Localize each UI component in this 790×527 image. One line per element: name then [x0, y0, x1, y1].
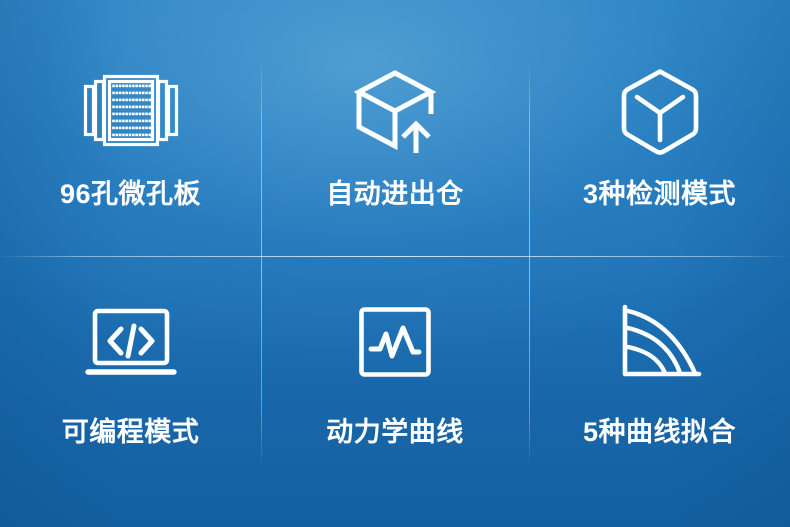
- decay-curves-icon: [605, 292, 715, 392]
- feature-grid: 96孔微孔板 自动进出仓: [0, 0, 790, 527]
- feature-cell-auto-tray[interactable]: 自动进出仓: [261, 0, 529, 256]
- hexagon-cube-icon: [605, 62, 715, 162]
- vertical-divider-right: [529, 60, 530, 470]
- horizontal-divider: [0, 256, 790, 257]
- box-arrow-up-icon: [340, 62, 450, 162]
- feature-cell-programmable[interactable]: 可编程模式: [0, 256, 261, 527]
- laptop-code-icon: [76, 292, 186, 392]
- feature-label: 3种检测模式: [583, 178, 736, 210]
- feature-label: 可编程模式: [62, 416, 200, 448]
- waveform-chart-icon: [340, 292, 450, 392]
- feature-cell-kinetics[interactable]: 动力学曲线: [261, 256, 529, 527]
- feature-cell-detection-modes[interactable]: 3种检测模式: [529, 0, 790, 256]
- microplate-96-well-icon: [76, 62, 186, 162]
- feature-cell-microplate[interactable]: 96孔微孔板: [0, 0, 261, 256]
- feature-label: 动力学曲线: [326, 416, 464, 448]
- feature-label: 5种曲线拟合: [583, 416, 736, 448]
- feature-cell-curve-fitting[interactable]: 5种曲线拟合: [529, 256, 790, 527]
- vertical-divider-left: [261, 60, 262, 470]
- feature-label: 自动进出仓: [326, 178, 464, 210]
- feature-banner: 96孔微孔板 自动进出仓: [0, 0, 790, 527]
- feature-label: 96孔微孔板: [60, 178, 201, 210]
